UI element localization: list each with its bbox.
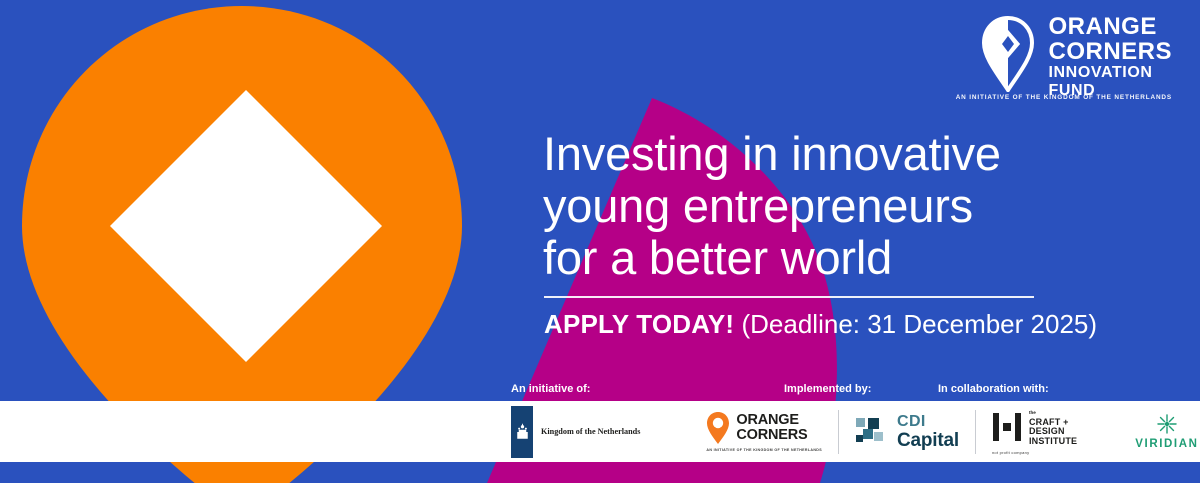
apply-cta: APPLY TODAY! (Deadline: 31 December 2025… — [544, 309, 1097, 339]
partner-logo-strip: Kingdom of the Netherlands ORANGE CORNER… — [0, 401, 1200, 462]
orange-corners-line2: CORNERS — [736, 428, 807, 443]
cdi-line2: Capital — [897, 431, 959, 450]
caption-implemented-by: Implemented by: — [784, 383, 871, 395]
viridian-label: VIRIDIAN — [1135, 438, 1198, 450]
orange-corners-line1: ORANGE — [736, 413, 807, 428]
caption-in-collaboration-with: In collaboration with: — [938, 383, 1049, 395]
separator-2 — [975, 410, 976, 454]
caption-an-initiative-of: An initiative of: — [511, 383, 590, 395]
partner-cdi-capital: CDI Capital — [855, 401, 959, 462]
cdi-line1: CDI — [897, 414, 959, 430]
orange-corners-pin-icon — [982, 16, 1034, 92]
craft-design-line3: INSTITUTE — [1029, 437, 1077, 447]
orange-corners-innovation-fund-logo: ORANGE CORNERS INNOVATION FUND — [982, 14, 1172, 100]
ocif-wordmark: ORANGE CORNERS INNOVATION FUND — [1048, 14, 1172, 100]
headline: Investing in innovative young entreprene… — [543, 128, 1163, 284]
partner-viridian: VIRIDIAN — [1135, 401, 1198, 462]
logo-line-innovation: INNOVATION — [1048, 64, 1172, 82]
netherlands-crest-icon — [511, 406, 533, 458]
partner-netherlands: Kingdom of the Netherlands — [511, 401, 640, 462]
partner-orange-corners: ORANGE CORNERS AN INITIATIVE OF THE KING… — [706, 401, 822, 462]
royal-crest-icon — [515, 423, 530, 441]
divider-rule — [544, 296, 1034, 298]
viridian-starburst-icon — [1156, 413, 1178, 435]
craft-design-subtitle: not profit company — [992, 450, 1029, 455]
craft-design-bracket-icon — [992, 412, 1022, 442]
campaign-banner: ORANGE CORNERS INNOVATION FUND AN INITIA… — [0, 0, 1200, 483]
netherlands-label: Kingdom of the Netherlands — [541, 427, 640, 436]
deadline-label: (Deadline: 31 December 2025) — [734, 309, 1097, 339]
partner-craft-design-institute: the CRAFT + DESIGN INSTITUTE not profit … — [992, 401, 1077, 462]
cdi-capital-squares-icon — [855, 415, 889, 449]
logo-line-orange: ORANGE — [1048, 14, 1172, 39]
logo-line-corners: CORNERS — [1048, 39, 1172, 64]
separator-1 — [838, 410, 839, 454]
logo-tagline: AN INITIATIVE OF THE KINGDOM OF THE NETH… — [956, 94, 1172, 101]
orange-corners-footer-tagline: AN INITIATIVE OF THE KINGDOM OF THE NETH… — [706, 448, 822, 452]
orange-corners-pin-icon-footer — [706, 411, 730, 445]
apply-today-label: APPLY TODAY! — [544, 309, 734, 339]
